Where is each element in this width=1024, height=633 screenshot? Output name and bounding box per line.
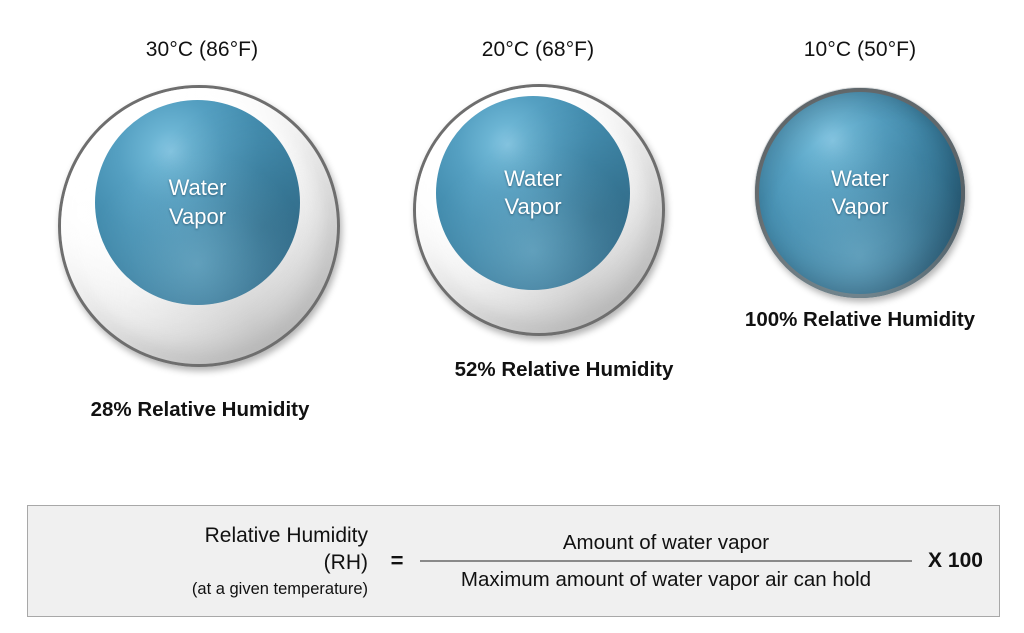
water-vapor-label-1: Water Vapor	[169, 174, 227, 230]
water-vapor-sphere-1: Water Vapor	[95, 100, 300, 305]
relative-humidity-label-2: 52% Relative Humidity	[404, 358, 724, 382]
formula-multiplier: X 100	[912, 549, 999, 573]
formula-term-temperature-note: (at a given temperature)	[28, 579, 368, 600]
formula-term-rh-abbreviation: (RH)	[28, 549, 368, 576]
relative-humidity-formula-box: Relative Humidity (RH) (at a given tempe…	[27, 505, 1000, 617]
relative-humidity-label-1: 28% Relative Humidity	[40, 398, 360, 422]
water-vapor-label-3-line2: Vapor	[831, 193, 889, 221]
formula-numerator: Amount of water vapor	[420, 530, 912, 560]
formula-fraction: Amount of water vapor Maximum amount of …	[420, 530, 912, 592]
air-parcel-3: Water Vapor	[755, 88, 965, 298]
water-vapor-label-2-line1: Water	[504, 165, 562, 193]
temperature-label-3: 10°C (50°F)	[740, 38, 980, 62]
temperature-label-1: 30°C (86°F)	[82, 38, 322, 62]
water-vapor-sphere-2: Water Vapor	[436, 96, 630, 290]
formula-equals-sign: =	[374, 548, 420, 574]
humidity-diagram: 30°C (86°F) Water Vapor 28% Relative Hum…	[0, 0, 1024, 633]
water-vapor-sphere-3: Water Vapor	[755, 88, 965, 298]
air-parcel-2: Water Vapor	[413, 84, 665, 336]
water-vapor-label-1-line2: Vapor	[169, 203, 227, 231]
water-vapor-label-2: Water Vapor	[504, 165, 562, 221]
relative-humidity-label-3: 100% Relative Humidity	[700, 308, 1020, 332]
air-parcel-1: Water Vapor	[58, 85, 340, 367]
formula-left-hand-side: Relative Humidity (RH) (at a given tempe…	[28, 522, 374, 600]
formula-term-relative-humidity: Relative Humidity	[28, 522, 368, 549]
water-vapor-label-3: Water Vapor	[831, 165, 889, 221]
water-vapor-label-3-line1: Water	[831, 165, 889, 193]
water-vapor-label-1-line1: Water	[169, 174, 227, 202]
formula-denominator: Maximum amount of water vapor air can ho…	[420, 562, 912, 592]
water-vapor-label-2-line2: Vapor	[504, 193, 562, 221]
temperature-label-2: 20°C (68°F)	[418, 38, 658, 62]
